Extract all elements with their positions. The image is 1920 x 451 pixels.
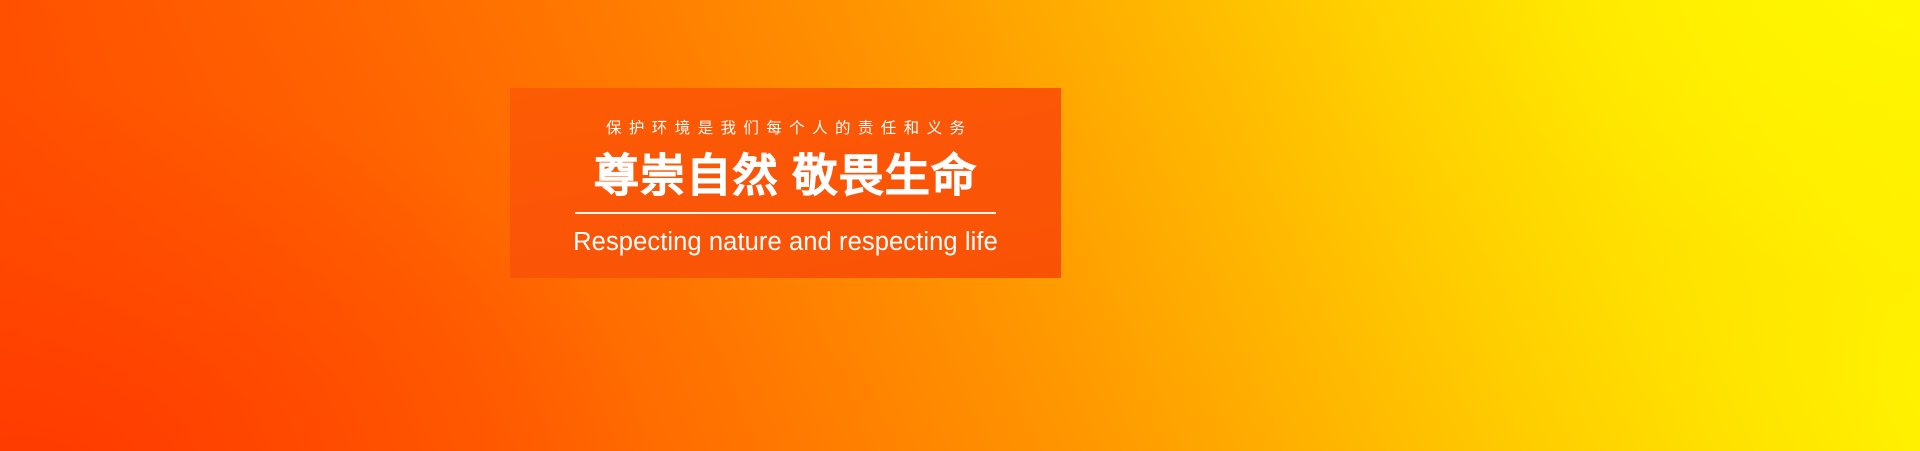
divider-rule	[575, 212, 996, 213]
headline-text: 尊崇自然 敬畏生命	[594, 152, 977, 200]
kicker-text: 保护环境是我们每个人的责任和义务	[599, 121, 973, 137]
environmental-banner: 保护环境是我们每个人的责任和义务 尊崇自然 敬畏生命 Respecting na…	[0, 0, 1920, 451]
subtitle-text: Respecting nature and respecting life	[573, 228, 998, 256]
slogan-panel: 保护环境是我们每个人的责任和义务 尊崇自然 敬畏生命 Respecting na…	[510, 88, 1061, 278]
